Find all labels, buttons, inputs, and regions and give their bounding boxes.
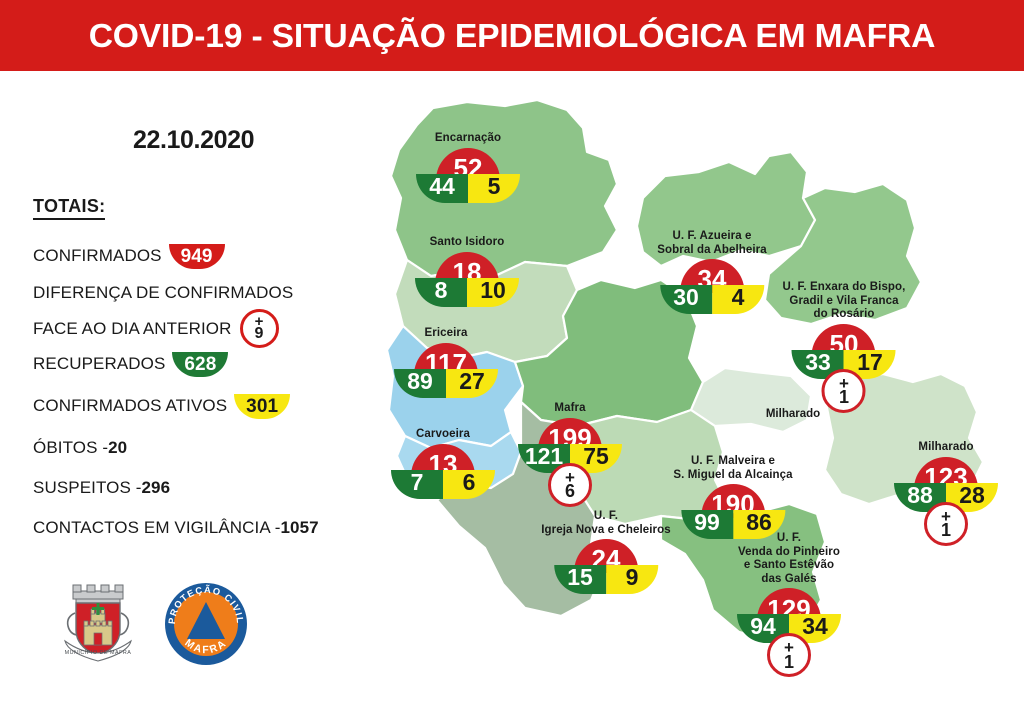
badge-active-ericeira: 27 [446, 369, 498, 398]
marker-santo-isidoro[interactable]: Santo Isidoro 18 8 10 [415, 236, 519, 307]
badge-uf-malveira: 190 99 86 [681, 484, 785, 539]
stat-label-obitos: ÓBITOS - [33, 438, 108, 458]
report-date: 22.10.2020 [133, 126, 254, 155]
marker-uf-enxara-do-bispo-gradil-vila-franca-do-rosario[interactable]: U. F. Enxara do Bispo, Gradil e Vila Fra… [783, 281, 906, 413]
label-line-2: Venda do Pinheiro [737, 546, 841, 560]
marker-label-uf-azueira-sobral-da-abelheira: U. F. Azueira e Sobral da Abelheira [657, 230, 766, 257]
badge-encarnacao: 52 44 5 [416, 148, 520, 203]
municipio-de-mafra-coat-of-arms: MUNICÍPIO DE MAFRA [55, 583, 141, 670]
label-line-2: Gradil e Vila Franca [783, 295, 906, 309]
stat-row-recuperados: RECUPERADOS 628 [33, 351, 228, 376]
label-line-3: do Rosário [783, 308, 906, 322]
badge-active-uf-azueira: 4 [712, 285, 764, 314]
badge-ericeira: 117 89 27 [394, 343, 498, 398]
marker-carvoeira[interactable]: Carvoeira 13 7 6 [391, 428, 495, 499]
protecao-civil-mafra-logo: PROTEÇÃO CIVIL MAFRA [163, 581, 249, 672]
stat-label-confirmados: CONFIRMADOS [33, 246, 162, 266]
badge-recovered-encarnacao: 44 [416, 174, 468, 203]
totals-heading: TOTAIS: [33, 196, 105, 220]
label-line-3: e Santo Estêvão [737, 559, 841, 573]
badge-recovered-uf-malveira: 99 [681, 510, 733, 539]
marker-label-uf-malveira: U. F. Malveira e S. Miguel da Alcainça [673, 455, 792, 482]
badge-milharado: 123 88 28 + 1 [894, 457, 998, 546]
marker-uf-azueira-sobral-da-abelheira[interactable]: U. F. Azueira e Sobral da Abelheira 34 3… [657, 230, 766, 314]
badge-active-carvoeira: 6 [443, 470, 495, 499]
badge-active-uf-igreja-nova: 9 [606, 565, 658, 594]
badge-uf-venda-do-pinheiro: 129 94 34 + 1 [737, 588, 841, 677]
badge-carvoeira: 13 7 6 [391, 444, 495, 499]
marker-label-uf-enxara-do-bispo: U. F. Enxara do Bispo, Gradil e Vila Fra… [783, 281, 906, 322]
plus-number: 1 [784, 655, 794, 669]
label-line-1: U. F. Malveira e [673, 455, 792, 469]
label-line-1: U. F. Enxara do Bispo, [783, 281, 906, 295]
marker-label-encarnacao: Encarnação [416, 132, 520, 146]
stat-row-confirmados-ativos: CONFIRMADOS ATIVOS 301 [33, 393, 290, 418]
label-line-1: U. F. [737, 532, 841, 546]
badge-recovered-ericeira: 89 [394, 369, 446, 398]
mafra-municipality-map: Milharado Encarnação 52 44 5 Santo Isido… [355, 80, 1024, 723]
badge-new-cases-mafra: + 6 [548, 463, 592, 507]
stat-value-obitos: 20 [108, 438, 127, 458]
badge-new-cases-uf-venda-do-pinheiro: + 1 [767, 633, 811, 677]
stat-label-contactos-vigilancia: CONTACTOS EM VIGILÂNCIA - [33, 518, 280, 538]
stat-value-recuperados: 628 [172, 352, 228, 377]
label-line-1: U. F. [541, 510, 671, 524]
label-line-2: S. Miguel da Alcainça [673, 469, 792, 483]
marker-label-santo-isidoro: Santo Isidoro [415, 236, 519, 250]
stat-value-suspeitos: 296 [141, 478, 170, 498]
label-line-1: U. F. Azueira e [657, 230, 766, 244]
badge-mafra: 199 121 75 + 6 [518, 418, 622, 507]
label-line-2: Igreja Nova e Cheleiros [541, 524, 671, 538]
marker-label-carvoeira: Carvoeira [391, 428, 495, 442]
page-title: COVID-19 - SITUAÇÃO EPIDEMIOLÓGICA EM MA… [89, 17, 935, 55]
badge-uf-igreja-nova-cheleiros: 24 15 9 [554, 539, 658, 594]
plus-number: 9 [255, 328, 264, 340]
stat-label-diferenca-line1: DIFERENÇA DE CONFIRMADOS [33, 283, 293, 303]
stat-label-confirmados-ativos: CONFIRMADOS ATIVOS [33, 396, 227, 416]
marker-uf-malveira-s-miguel-da-alcainca[interactable]: U. F. Malveira e S. Miguel da Alcainça 1… [673, 455, 792, 539]
marker-encarnacao[interactable]: Encarnação 52 44 5 [416, 132, 520, 203]
stat-label-diferenca-line2: FACE AO DIA ANTERIOR [33, 319, 232, 339]
stat-row-diferenca-confirmados: DIFERENÇA DE CONFIRMADOS FACE AO DIA ANT… [33, 283, 293, 348]
page-header-banner: COVID-19 - SITUAÇÃO EPIDEMIOLÓGICA EM MA… [0, 0, 1024, 71]
marker-label-uf-igreja-nova-cheleiros: U. F. Igreja Nova e Cheleiros [541, 510, 671, 537]
plus-number: 1 [839, 390, 849, 404]
stat-value-confirmados-ativos: 301 [234, 394, 290, 419]
coat-of-arms-caption: MUNICÍPIO DE MAFRA [65, 649, 132, 656]
label-line-4: das Galés [737, 573, 841, 587]
badge-new-cases-uf-enxara: + 1 [822, 369, 866, 413]
marker-milharado[interactable]: Milharado 123 88 28 + 1 [894, 441, 998, 546]
stat-value-diferenca-badge: + 9 [240, 309, 279, 348]
marker-label-mafra: Mafra [518, 402, 622, 416]
plus-number: 1 [941, 523, 951, 537]
stat-row-confirmados: CONFIRMADOS 949 [33, 243, 225, 268]
badge-new-cases-milharado: + 1 [924, 502, 968, 546]
stat-label-suspeitos: SUSPEITOS - [33, 478, 141, 498]
marker-ericeira[interactable]: Ericeira 117 89 27 [394, 327, 498, 398]
badge-recovered-carvoeira: 7 [391, 470, 443, 499]
badge-santo-isidoro: 18 8 10 [415, 252, 519, 307]
stat-row-obitos: ÓBITOS - 20 [33, 438, 127, 458]
marker-mafra[interactable]: Mafra 199 121 75 + 6 [518, 402, 622, 507]
badge-recovered-santo-isidoro: 8 [415, 278, 467, 307]
logos-row: MUNICÍPIO DE MAFRA PROTEÇÃO CIVIL MAFRA [55, 581, 249, 672]
badge-active-santo-isidoro: 10 [467, 278, 519, 307]
marker-uf-venda-do-pinheiro-santo-estevao-das-gales[interactable]: U. F. Venda do Pinheiro e Santo Estêvão … [737, 532, 841, 677]
plus-number: 6 [565, 484, 575, 498]
marker-label-ericeira: Ericeira [394, 327, 498, 341]
label-line-2: Sobral da Abelheira [657, 244, 766, 258]
badge-uf-azueira-sobral-da-abelheira: 34 30 4 [660, 259, 764, 314]
badge-recovered-uf-igreja-nova: 15 [554, 565, 606, 594]
badge-uf-enxara-do-bispo: 50 33 17 + 1 [792, 324, 896, 413]
stat-label-recuperados: RECUPERADOS [33, 354, 165, 374]
stat-value-confirmados: 949 [169, 244, 225, 269]
marker-label-milharado: Milharado [894, 441, 998, 455]
marker-uf-igreja-nova-cheleiros[interactable]: U. F. Igreja Nova e Cheleiros 24 15 9 [541, 510, 671, 594]
statistics-panel: 22.10.2020 TOTAIS: CONFIRMADOS 949 DIFER… [0, 71, 360, 723]
stat-row-contactos-vigilancia: CONTACTOS EM VIGILÂNCIA - 1057 [33, 518, 319, 538]
badge-recovered-uf-azueira: 30 [660, 285, 712, 314]
marker-label-uf-venda-do-pinheiro: U. F. Venda do Pinheiro e Santo Estêvão … [737, 532, 841, 586]
stat-value-contactos-vigilancia: 1057 [280, 518, 318, 538]
stat-row-suspeitos: SUSPEITOS - 296 [33, 478, 170, 498]
badge-active-encarnacao: 5 [468, 174, 520, 203]
